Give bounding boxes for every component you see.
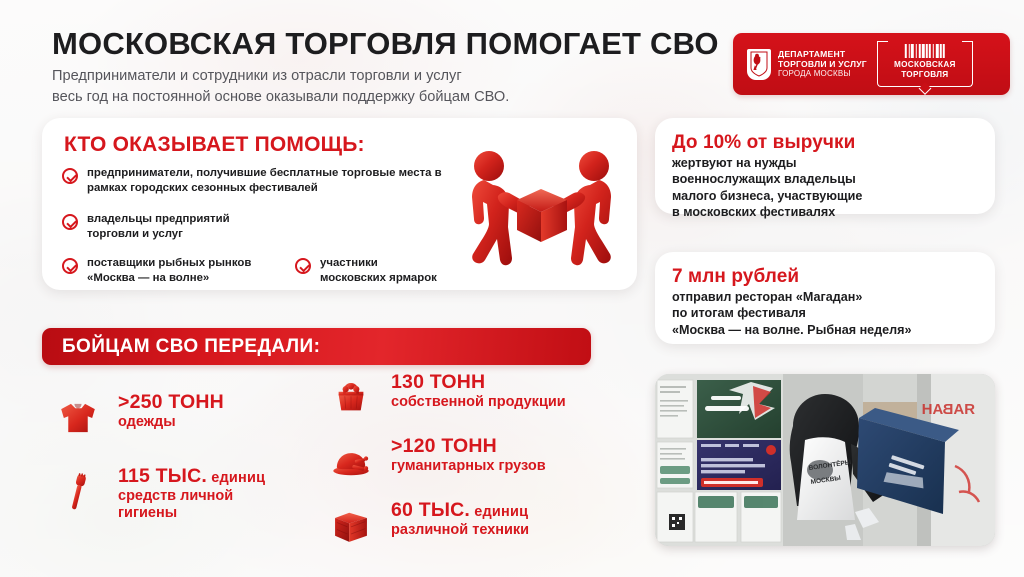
revenue-share-card: До 10% от выручки жертвуют на нужды воен… [655, 118, 995, 214]
stat-label: различной техники [391, 522, 529, 539]
basket-art [328, 375, 374, 421]
stat-amount-unit: единиц [207, 470, 265, 486]
delivered-banner-label: БОЙЦАМ СВО ПЕРЕДАЛИ: [62, 336, 320, 358]
tshirt-icon [52, 392, 104, 444]
stat-text: 60 ТЫС. единиц различной техники [391, 500, 529, 539]
toothbrush-art [55, 469, 101, 515]
page-subtitle: Предприниматели и сотрудники из отрасли … [52, 66, 692, 108]
who-helps-card: КТО ОКАЗЫВАЕТ ПОМОЩЬ: предприниматели, п… [42, 118, 637, 290]
check-circle-icon [295, 258, 311, 274]
stat-text: 115 ТЫС. единиц средств личной гигиены [118, 466, 265, 523]
list-item: предприниматели, получившие бесплатные т… [62, 166, 482, 196]
list-item: >120 ТОНН гуманитарных грузов [325, 436, 635, 488]
stat-text: >120 ТОНН гуманитарных грузов [391, 436, 546, 475]
list-item: 115 ТЫС. единиц средств личной гигиены [52, 466, 322, 523]
volunteer-photo: ЯАВАН ВОЛОНТЁРЫ МОСКВЫ [655, 374, 995, 546]
check-circle-icon [62, 214, 78, 230]
stat-amount: >120 ТОНН [391, 436, 546, 458]
toothbrush-icon [52, 466, 104, 518]
revenue-share-body: жертвуют на нужды военнослужащих владель… [672, 155, 979, 220]
chicken-art [328, 439, 374, 485]
delivered-column-right: 130 ТОНН собственной продукции [325, 372, 635, 568]
brand-line-2: ТОРГОВЛЯ [877, 70, 973, 80]
svg-text:ЯАВАН: ЯАВАН [922, 401, 975, 418]
list-item: поставщики рыбных рынков «Москва — на во… [62, 256, 277, 286]
moscow-trade-logo: МОСКОВСКАЯ ТОРГОВЛЯ [877, 41, 973, 87]
food-basket-icon [325, 372, 377, 424]
list-item-label: поставщики рыбных рынков «Москва — на во… [87, 256, 251, 286]
brand-line-1: МОСКОВСКАЯ [877, 60, 973, 70]
stat-text: 130 ТОНН собственной продукции [391, 372, 566, 411]
list-item-label: участники московских ярмарок [320, 256, 437, 286]
magadan-donation-headline: 7 млн рублей [672, 266, 979, 288]
crate-box-icon [325, 500, 377, 552]
department-line-1: ДЕПАРТАМЕНТ [778, 49, 867, 59]
check-circle-icon [62, 258, 78, 274]
department-text: ДЕПАРТАМЕНТ ТОРГОВЛИ И УСЛУГ ГОРОДА МОСК… [778, 49, 867, 79]
stat-amount: 60 ТЫС. единиц [391, 500, 529, 522]
two-people-carrying-box-icon [454, 140, 629, 280]
stat-label: средств личной гигиены [118, 488, 265, 523]
roast-chicken-icon [325, 436, 377, 488]
stat-amount-unit: единиц [470, 504, 528, 520]
stat-text: >250 ТОНН одежды [118, 392, 224, 431]
who-helps-list-row: поставщики рыбных рынков «Москва — на во… [62, 256, 437, 286]
stat-amount: >250 ТОНН [118, 392, 224, 414]
who-helps-list: предприниматели, получившие бесплатные т… [62, 166, 482, 255]
list-item: владельцы предприятий торговли и услуг [62, 212, 482, 242]
list-item-label: предприниматели, получившие бесплатные т… [87, 166, 482, 196]
list-item-label: владельцы предприятий торговли и услуг [87, 212, 230, 242]
department-line-2: ТОРГОВЛИ И УСЛУГ [778, 59, 867, 69]
list-item: 130 ТОНН собственной продукции [325, 372, 635, 424]
volunteer-photo-art: ЯАВАН ВОЛОНТЁРЫ МОСКВЫ [655, 374, 995, 546]
crate-art [328, 503, 374, 549]
revenue-share-headline: До 10% от выручки [672, 132, 979, 154]
page-title: МОСКОВСКАЯ ТОРГОВЛЯ ПОМОГАЕТ СВО [52, 28, 752, 61]
magadan-donation-body: отправил ресторан «Магадан» по итогам фе… [672, 289, 979, 338]
tshirt-art [55, 395, 101, 441]
delivered-banner: БОЙЦАМ СВО ПЕРЕДАЛИ: [42, 328, 591, 365]
department-logo: ДЕПАРТАМЕНТ ТОРГОВЛИ И УСЛУГ ГОРОДА МОСК… [747, 49, 867, 80]
barcode-icon [905, 44, 945, 58]
movers-art [454, 140, 629, 280]
stat-amount: 115 ТЫС. единиц [118, 466, 265, 488]
stat-label: одежды [118, 414, 224, 431]
magadan-donation-card: 7 млн рублей отправил ресторан «Магадан»… [655, 252, 995, 344]
crest-art [749, 51, 769, 77]
department-line-3: ГОРОДА МОСКВЫ [778, 69, 867, 78]
stat-label: собственной продукции [391, 394, 566, 411]
stat-amount: 130 ТОНН [391, 372, 566, 394]
delivered-column-left: >250 ТОНН одежды [52, 392, 322, 539]
moscow-coat-of-arms-icon [747, 49, 771, 80]
list-item: >250 ТОНН одежды [52, 392, 322, 444]
logo-bar: ДЕПАРТАМЕНТ ТОРГОВЛИ И УСЛУГ ГОРОДА МОСК… [733, 33, 1010, 95]
brand-text: МОСКОВСКАЯ ТОРГОВЛЯ [877, 60, 973, 80]
who-helps-heading: КТО ОКАЗЫВАЕТ ПОМОЩЬ: [64, 133, 365, 157]
stat-label: гуманитарных грузов [391, 458, 546, 475]
list-item: 60 ТЫС. единиц различной техники [325, 500, 635, 552]
check-circle-icon [62, 168, 78, 184]
list-item: участники московских ярмарок [295, 256, 437, 286]
